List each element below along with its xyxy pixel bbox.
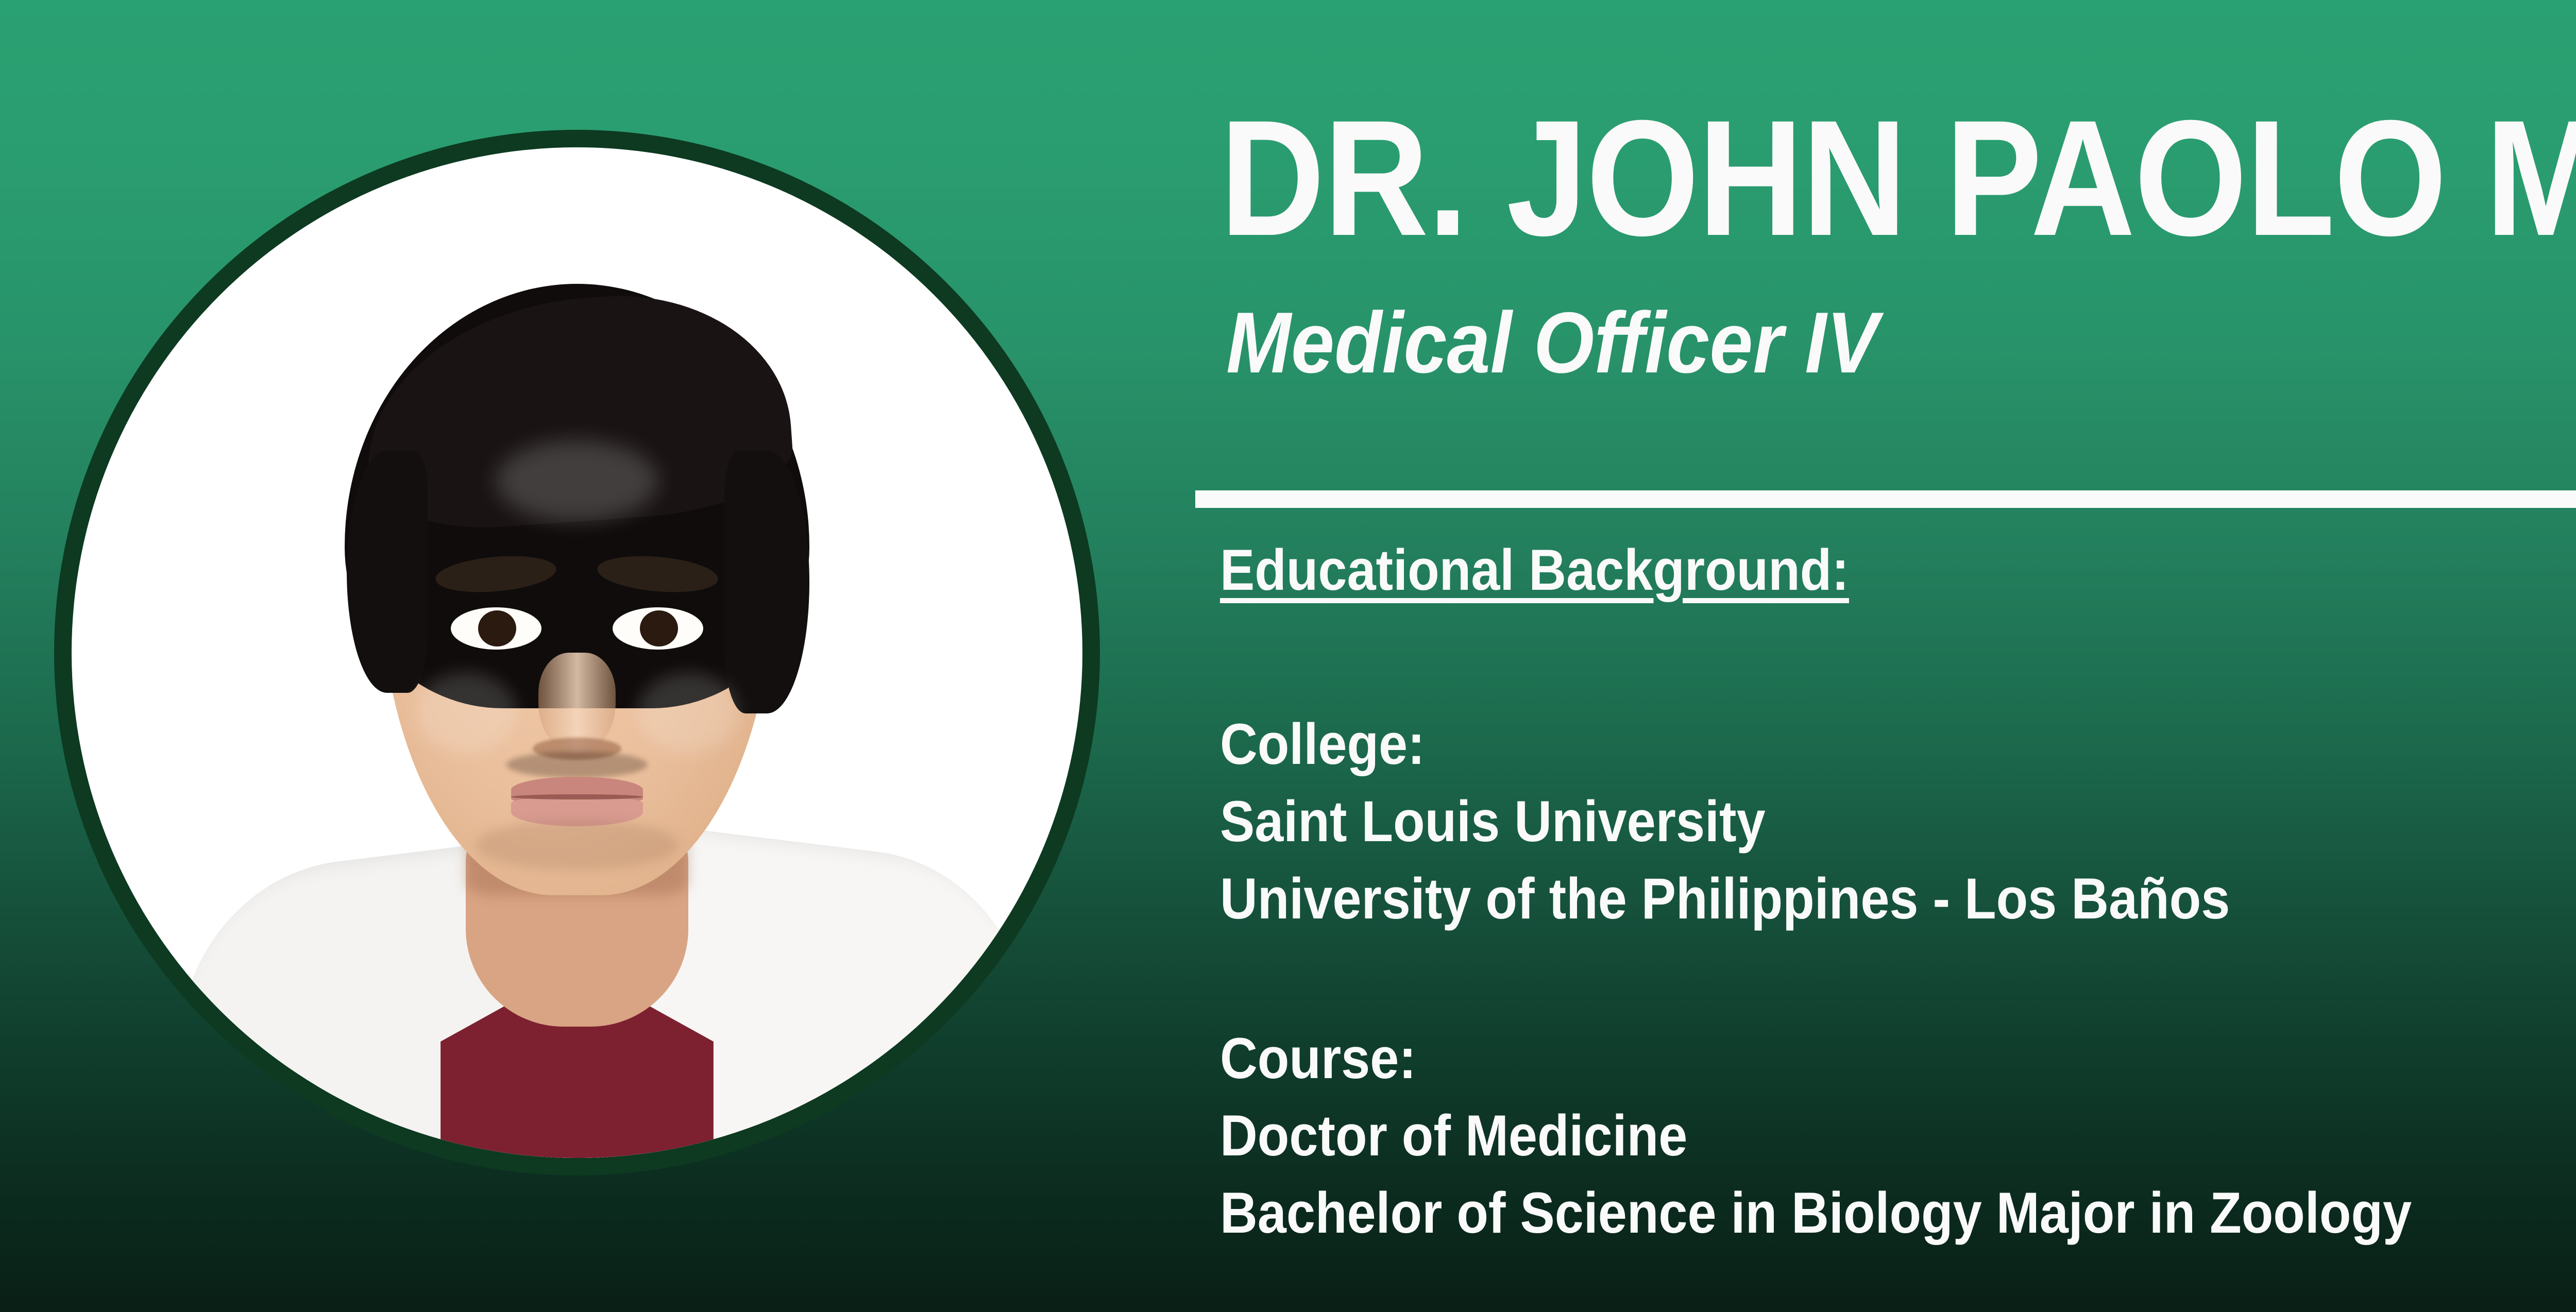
page-title: DR. JOHN PAOLO M. RODIL — [1220, 90, 2576, 265]
chin-shadow — [476, 820, 678, 870]
course-block: Course: Doctor of Medicine Bachelor of S… — [1220, 1020, 2412, 1252]
moustache-shadow — [506, 752, 648, 778]
hair-side-left — [347, 451, 428, 693]
profile-banner: DR. JOHN PAOLO M. RODIL Medical Officer … — [0, 0, 2576, 1312]
course-item: Bachelor of Science in Biology Major in … — [1220, 1174, 2412, 1252]
profile-text-column: DR. JOHN PAOLO M. RODIL Medical Officer … — [1220, 0, 2576, 1312]
divider — [1195, 490, 2576, 508]
role-subtitle: Medical Officer IV — [1226, 294, 1878, 391]
iris-right — [640, 610, 679, 647]
college-label: College: — [1220, 706, 2230, 783]
college-item: Saint Louis University — [1220, 783, 2230, 860]
course-item: Doctor of Medicine — [1220, 1097, 2412, 1174]
course-label: Course: — [1220, 1020, 2412, 1097]
cheek-highlight-right — [638, 673, 739, 754]
avatar — [54, 130, 1100, 1175]
portrait-photo — [72, 147, 1082, 1158]
iris-left — [478, 610, 517, 647]
college-block: College: Saint Louis University Universi… — [1220, 706, 2230, 938]
hair-side-right — [724, 451, 809, 713]
education-section-heading: Educational Background: — [1220, 538, 1849, 602]
cheek-highlight-left — [415, 673, 516, 754]
college-item: University of the Philippines - Los Baño… — [1220, 860, 2230, 938]
forehead-highlight — [496, 440, 658, 521]
